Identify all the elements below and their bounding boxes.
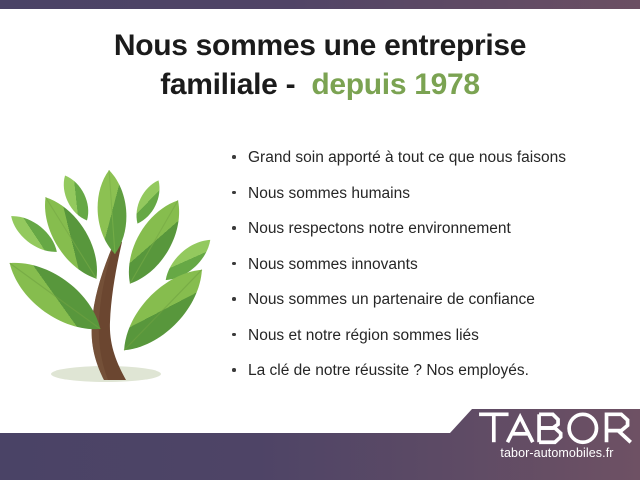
list-item-label: Nous et notre région sommes liés [248,327,479,344]
list-item-label: La clé de notre réussite ? Nos employés. [248,362,529,379]
list-item: Nous sommes humains [231,184,631,203]
footer-shape [0,409,640,480]
bullet-dot-icon [232,368,236,372]
list-item-label: Nous sommes un partenaire de confiance [248,291,535,308]
bullet-dot-icon [232,155,236,159]
bullet-dot-icon [232,333,236,337]
list-item: Nous et notre région sommes liés [231,326,631,345]
leaf-lower-right [111,257,216,364]
headline-line-2: familiale - depuis 1978 [0,65,640,104]
bullet-dot-icon [232,191,236,195]
footer-band [0,405,640,480]
top-accent-strip [0,0,640,9]
bullet-dot-icon [232,297,236,301]
tree-illustration [8,150,222,390]
headline-line-2-plain: familiale - [160,68,311,101]
page-title: Nous sommes une entreprise familiale - d… [0,26,640,104]
headline-accent-text: depuis 1978 [311,68,479,101]
list-item: La clé de notre réussite ? Nos employés. [231,361,631,380]
bullet-dot-icon [232,262,236,266]
leaf-top-center [95,169,129,255]
value-proposition-list: Grand soin apporté à tout ce que nous fa… [231,148,631,397]
list-item-label: Nous respectons notre environnement [248,220,511,237]
list-item: Nous sommes innovants [231,255,631,274]
list-item-label: Nous sommes humains [248,185,410,202]
bullet-dot-icon [232,226,236,230]
slide-canvas: Nous sommes une entreprise familiale - d… [0,0,640,480]
list-item: Nous respectons notre environnement [231,219,631,238]
list-item-label: Nous sommes innovants [248,256,418,273]
list-item-label: Grand soin apporté à tout ce que nous fa… [248,149,566,166]
headline-line-1: Nous sommes une entreprise [0,26,640,65]
list-item: Nous sommes un partenaire de confiance [231,290,631,309]
list-item: Grand soin apporté à tout ce que nous fa… [231,148,631,167]
